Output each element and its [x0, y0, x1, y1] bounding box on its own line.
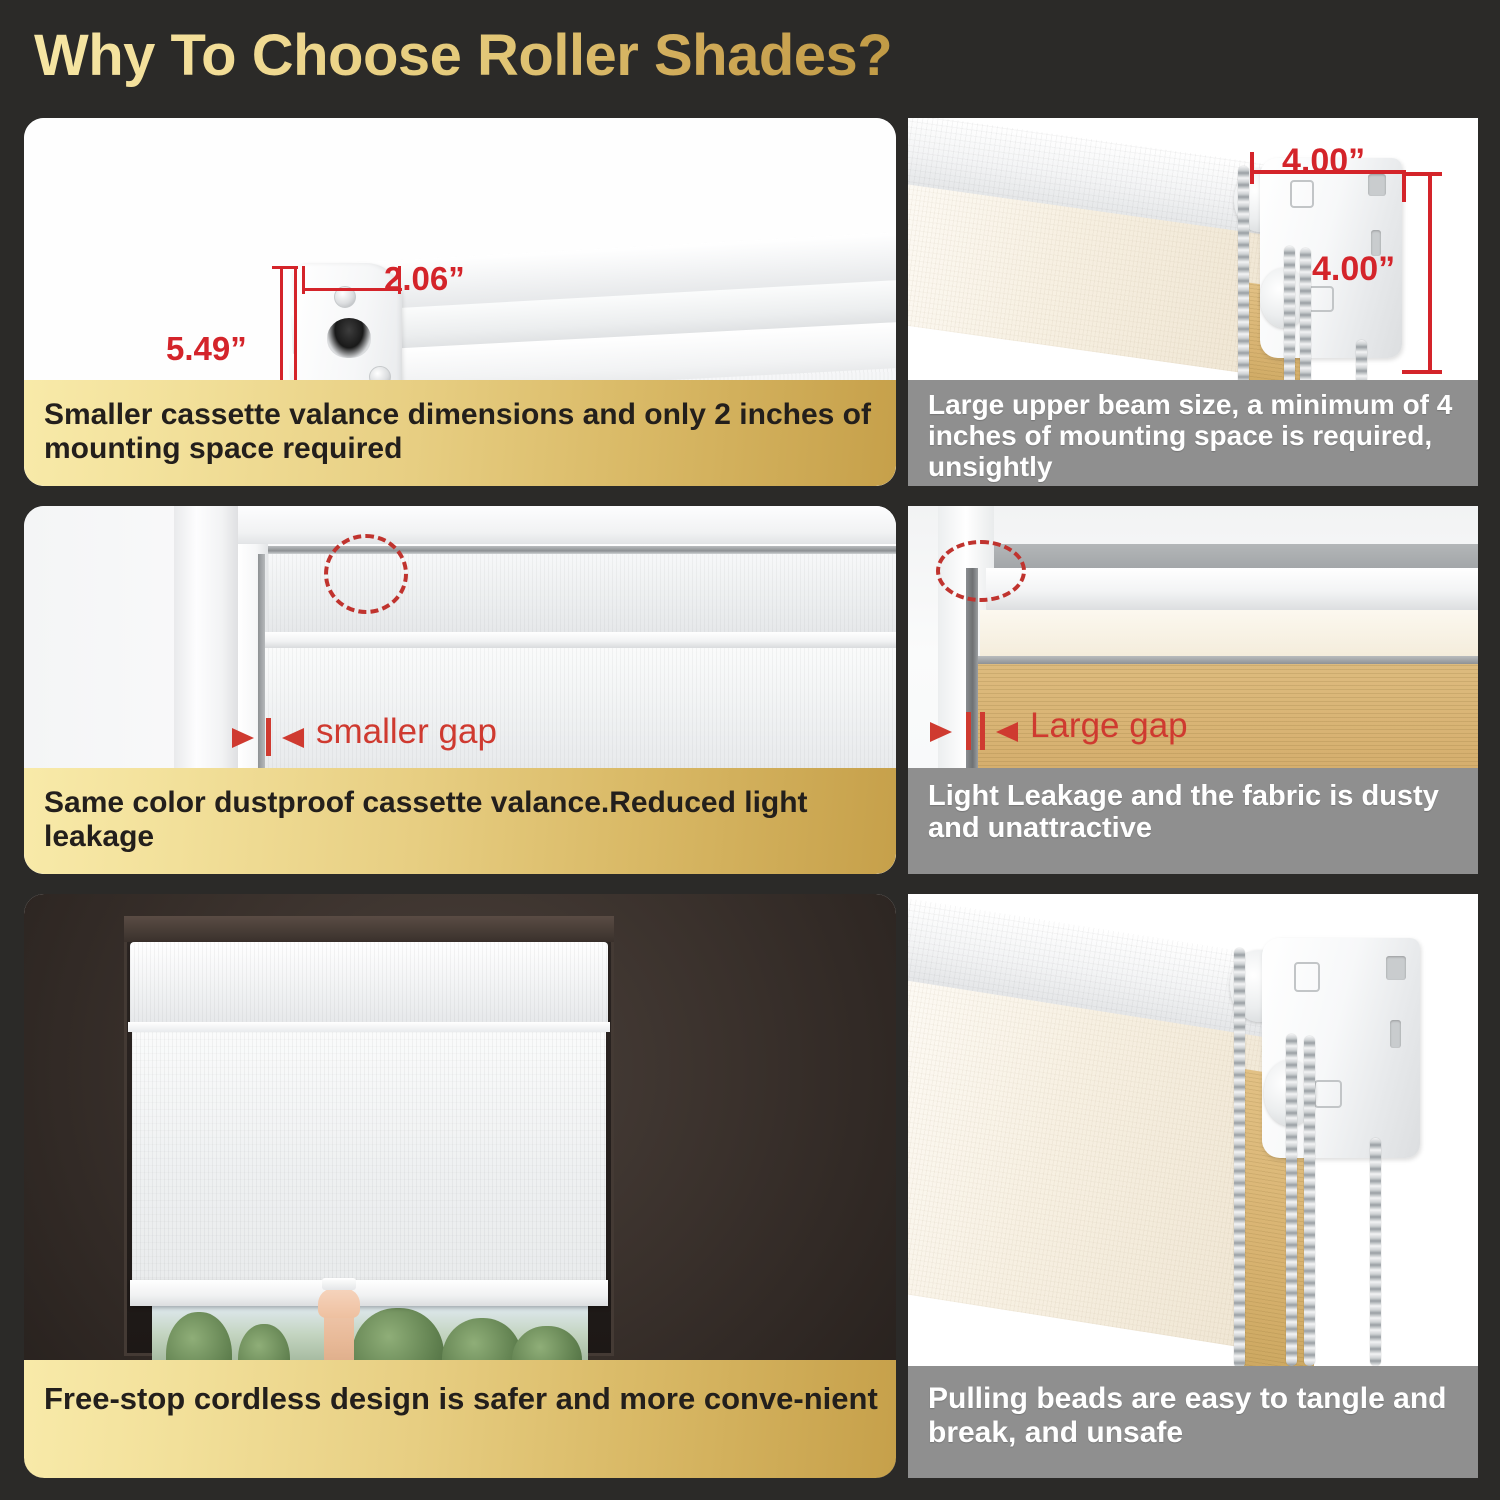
highlight-circle-icon: [324, 534, 408, 614]
bracket-slot: [1390, 1020, 1401, 1048]
gap-tick: [980, 712, 985, 750]
panel-caption-good-2: Same color dustproof cassette valance.Re…: [24, 768, 896, 874]
cassette-valance: [130, 942, 608, 1024]
panel-caption-good-1: Smaller cassette valance dimensions and …: [24, 380, 896, 486]
gap-arrow-right-icon: [232, 728, 254, 748]
fingers: [318, 1288, 360, 1318]
panel-cordless-design: Free-stop cordless design is safer and m…: [24, 894, 896, 1478]
height-tick-top: [1402, 172, 1442, 176]
panel-pulling-beads: Pulling beads are easy to tangle and bre…: [908, 894, 1478, 1478]
gap-tick: [966, 712, 971, 750]
shade-fabric: [132, 1032, 606, 1292]
height-dimension-label: 5.49”: [166, 330, 247, 368]
gap-arrow-right-icon: [930, 722, 952, 742]
width-dimension-label: 2.06”: [384, 260, 465, 298]
side-gap: [258, 554, 265, 770]
bead-chain: [1304, 1036, 1315, 1366]
bead-chain: [1234, 948, 1245, 1368]
width-tick-left: [1250, 152, 1254, 184]
highlight-circle-icon: [936, 540, 1026, 602]
bead-chain: [1238, 166, 1249, 416]
pull-tab: [322, 1278, 356, 1290]
cassette-lip: [128, 1022, 610, 1032]
bead-chain: [1286, 1034, 1297, 1366]
bracket-direction-icon: [1290, 180, 1314, 208]
panel-cassette-dimensions: 5.49” 2.06” Smaller cassette valance dim…: [24, 118, 896, 486]
gap-arrow-left-icon: [282, 728, 304, 748]
bead-chain: [1370, 1138, 1381, 1366]
panel-large-gap: Large gap Light Leakage and the fabric i…: [908, 506, 1478, 874]
cassette-clutch-opening: [327, 318, 371, 358]
bracket-direction-icon: [1294, 962, 1320, 992]
roller-tube: [986, 568, 1478, 614]
bracket-slot: [1368, 174, 1386, 196]
panel-smaller-gap: smaller gap Same color dustproof cassett…: [24, 506, 896, 874]
fabric-edge: [978, 656, 1478, 664]
beige-fabric-band: [980, 610, 1478, 658]
panel-caption-good-3: Free-stop cordless design is safer and m…: [24, 1360, 896, 1478]
panel-large-beam: 4.00” 4.00” Large upper beam size, a min…: [908, 118, 1478, 486]
width-tick-left: [302, 266, 305, 294]
height-tick-bottom: [1402, 370, 1442, 374]
height-tick-top: [272, 266, 298, 269]
window-head-trim: [238, 506, 896, 544]
bracket-slot: [1386, 956, 1406, 980]
comparison-grid: 5.49” 2.06” Smaller cassette valance dim…: [0, 0, 1500, 1500]
bracket-direction-icon: [1308, 286, 1334, 312]
window-head-trim: [124, 916, 614, 942]
gap-arrow-left-icon: [996, 722, 1018, 742]
gap-tick: [266, 718, 271, 756]
beam-width-label: 4.00”: [1282, 142, 1365, 181]
bracket-direction-icon: [1314, 1080, 1342, 1108]
beam-height-label: 4.00”: [1312, 250, 1395, 289]
large-gap-label: Large gap: [1030, 706, 1188, 746]
smaller-gap-label: smaller gap: [316, 712, 497, 752]
panel-caption-bad-2: Light Leakage and the fabric is dusty an…: [908, 768, 1478, 874]
panel-caption-bad-3: Pulling beads are easy to tangle and bre…: [908, 1366, 1478, 1478]
shade-bottom-bar: [130, 1280, 608, 1306]
height-dimension-line: [1428, 174, 1432, 374]
panel-caption-bad-1: Large upper beam size, a minimum of 4 in…: [908, 380, 1478, 486]
cassette-lip: [264, 632, 896, 648]
